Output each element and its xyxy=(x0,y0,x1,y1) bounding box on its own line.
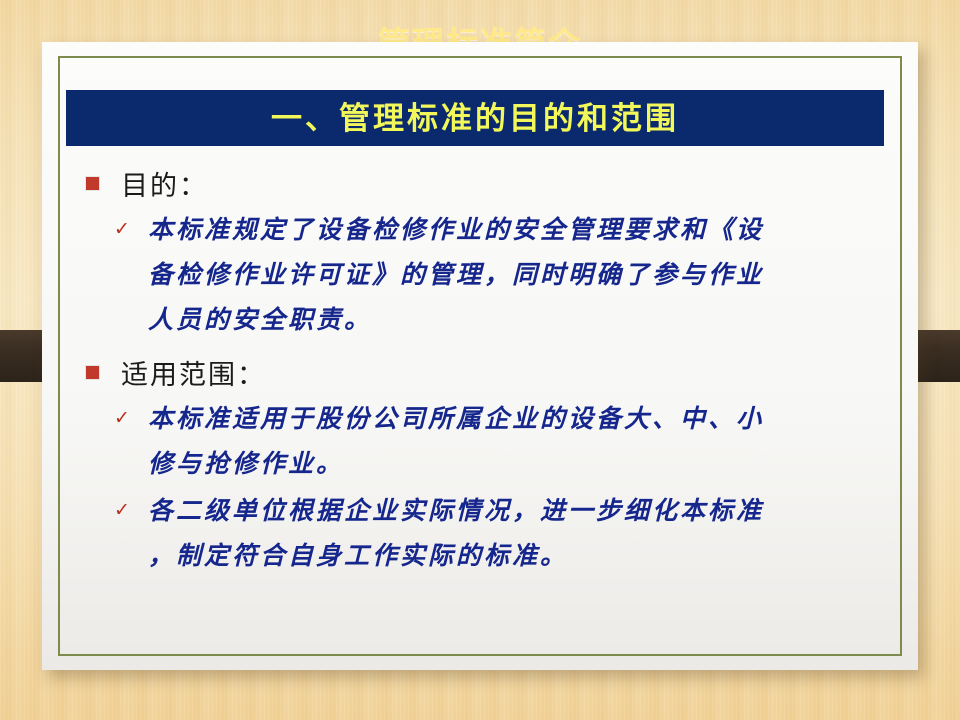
check-mark-icon: ✓ xyxy=(114,501,134,520)
section-purpose: 目的： ✓ 本标准规定了设备检修作业的安全管理要求和《设 备检修作业许可证》的管… xyxy=(66,160,896,343)
paragraph-lines: 本标准适用于股份公司所属企业的设备大、中、小 修与抢修作业。 xyxy=(148,397,896,487)
square-bullet-icon xyxy=(86,366,99,379)
check-mark-icon: ✓ xyxy=(114,220,134,239)
paragraph-line: 各二级单位根据企业实际情况，进一步细化本标准 xyxy=(148,489,896,534)
section-header: 适用范围： xyxy=(66,349,896,395)
paragraph-line: 本标准适用于股份公司所属企业的设备大、中、小 xyxy=(148,397,896,442)
section-header: 目的： xyxy=(66,160,896,206)
section-label: 目的： xyxy=(121,164,208,203)
paragraph-lines: 本标准规定了设备检修作业的安全管理要求和《设 备检修作业许可证》的管理，同时明确… xyxy=(148,208,896,343)
section-label: 适用范围： xyxy=(121,353,266,392)
paragraph-item: ✓ 各二级单位根据企业实际情况，进一步细化本标准 ，制定符合自身工作实际的标准。 xyxy=(66,489,896,579)
slide-body: 目的： ✓ 本标准规定了设备检修作业的安全管理要求和《设 备检修作业许可证》的管… xyxy=(66,160,896,660)
slide-root: 管理标准简介 一、管理标准的目的和范围 目的： ✓ 本标准规定了设备检修作业的安… xyxy=(0,0,960,720)
paragraph-item: ✓ 本标准规定了设备检修作业的安全管理要求和《设 备检修作业许可证》的管理，同时… xyxy=(66,208,896,343)
section-heading-text: 一、管理标准的目的和范围 xyxy=(271,103,679,134)
paragraph-line: 本标准规定了设备检修作业的安全管理要求和《设 xyxy=(148,208,896,253)
paragraph-item: ✓ 本标准适用于股份公司所属企业的设备大、中、小 修与抢修作业。 xyxy=(66,397,896,487)
paragraph-line: ，制定符合自身工作实际的标准。 xyxy=(148,534,896,579)
paragraph-line: 修与抢修作业。 xyxy=(148,442,896,487)
section-scope: 适用范围： ✓ 本标准适用于股份公司所属企业的设备大、中、小 修与抢修作业。 ✓… xyxy=(66,349,896,579)
section-heading-banner: 一、管理标准的目的和范围 xyxy=(66,90,884,146)
check-mark-icon: ✓ xyxy=(114,409,134,428)
content-card: 一、管理标准的目的和范围 目的： ✓ 本标准规定了设备检修作业的安全管理要求和《… xyxy=(42,42,918,670)
paragraph-line: 人员的安全职责。 xyxy=(148,298,896,343)
square-bullet-icon xyxy=(86,177,99,190)
paragraph-line: 备检修作业许可证》的管理，同时明确了参与作业 xyxy=(148,253,896,298)
paragraph-lines: 各二级单位根据企业实际情况，进一步细化本标准 ，制定符合自身工作实际的标准。 xyxy=(148,489,896,579)
